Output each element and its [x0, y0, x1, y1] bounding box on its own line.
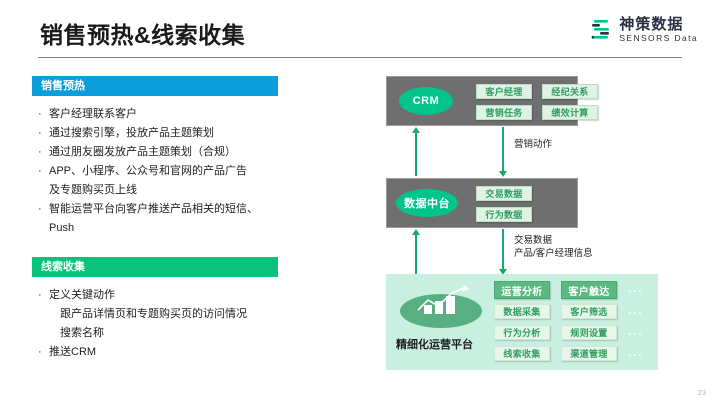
arrow-down-head-1 [499, 171, 507, 177]
list-item: · 智能运营平台向客户推送产品相关的短信、 Push [38, 200, 274, 238]
bullet-text: 推送CRM [49, 343, 274, 362]
chip-customer-reach[interactable]: 客户触达 [561, 281, 617, 299]
list-item: · 定义关键动作 跟产品详情页和专题购买页的访问情况 搜索名称 [38, 286, 274, 343]
continuation-dots: ··· [628, 351, 644, 362]
flow-label-transaction-data: 交易数据 产品/客户经理信息 [514, 234, 593, 260]
chip-broker-relation[interactable]: 经纪关系 [542, 84, 598, 99]
logo-cn-text: 神策数据 [619, 17, 698, 32]
architecture-diagram: CRM 客户经理 经纪关系 营销任务 绩效计算 营销动作 数据中台 交易数据 行… [386, 76, 686, 371]
chip-performance-calc[interactable]: 绩效计算 [542, 105, 598, 120]
arrow-up-head-2 [412, 229, 420, 235]
bullet-line: 智能运营平台向客户推送产品相关的短信、 [49, 203, 258, 215]
page-number: 23 [698, 388, 706, 397]
arrow-up-shaft-1 [415, 132, 417, 176]
arrow-up-head-1 [412, 127, 420, 133]
bullet-subline: 跟产品详情页和专题购买页的访问情况 [49, 305, 274, 324]
bullet-marker: · [38, 343, 49, 362]
chip-rule-setting[interactable]: 规则设置 [561, 325, 617, 340]
chip-operation-analysis[interactable]: 运营分析 [494, 281, 550, 299]
chip-customer-filter[interactable]: 客户筛选 [561, 304, 617, 319]
bullet-marker: · [38, 105, 49, 124]
chip-behavior-analysis[interactable]: 行为分析 [494, 325, 550, 340]
bullet-marker: · [38, 200, 49, 219]
panel-lead-collection: 线索收集 · 定义关键动作 跟产品详情页和专题购买页的访问情况 搜索名称 · 推… [32, 257, 278, 366]
continuation-dots: ··· [628, 287, 644, 298]
chip-account-manager[interactable]: 客户经理 [476, 84, 532, 99]
continuation-dots: ··· [628, 330, 644, 341]
bullet-marker: · [38, 286, 49, 305]
bullet-text: 客户经理联系客户 [49, 105, 274, 124]
bullet-text: APP、小程序、公众号和官网的产品广告 及专题购买页上线 [49, 162, 274, 200]
bullet-line: 定义关键动作 [49, 289, 115, 301]
continuation-dots: ··· [628, 309, 644, 320]
chip-data-collection[interactable]: 数据采集 [494, 304, 550, 319]
arrow-down-shaft-1 [502, 127, 504, 171]
bullet-text: 通过朋友圈发放产品主题策划（合规） [49, 143, 274, 162]
chip-marketing-task[interactable]: 营销任务 [476, 105, 532, 120]
chip-lead-collection[interactable]: 线索收集 [494, 346, 550, 361]
logo-en-text: SENSORS Data [619, 34, 698, 43]
logo-wordmark: 神策数据 SENSORS Data [619, 17, 698, 43]
arrow-up-shaft-2 [415, 234, 417, 274]
list-item: · 通过朋友圈发放产品主题策划（合规） [38, 143, 274, 162]
bullet-line: 及专题购买页上线 [49, 184, 137, 196]
list-item: · 通过搜索引擎，投放产品主题策划 [38, 124, 274, 143]
panel-header-sales-warmup: 销售预热 [32, 76, 278, 96]
list-item: · APP、小程序、公众号和官网的产品广告 及专题购买页上线 [38, 162, 274, 200]
title-divider [38, 57, 682, 58]
list-item: · 推送CRM [38, 343, 274, 362]
bullet-subline: 搜索名称 [49, 324, 274, 343]
chip-channel-management[interactable]: 渠道管理 [561, 346, 617, 361]
panel-body-sales-warmup: · 客户经理联系客户 · 通过搜索引擎，投放产品主题策划 · 通过朋友圈发放产品… [32, 96, 278, 242]
panel-sales-warmup: 销售预热 · 客户经理联系客户 · 通过搜索引擎，投放产品主题策划 · 通过朋友… [32, 76, 278, 242]
bullet-line: Push [49, 222, 74, 234]
sensors-logo-icon [591, 18, 613, 42]
flow-label-marketing-action: 营销动作 [514, 138, 552, 151]
bullet-text: 通过搜索引擎，投放产品主题策划 [49, 124, 274, 143]
bullet-marker: · [38, 143, 49, 162]
list-item: · 客户经理联系客户 [38, 105, 274, 124]
brand-logo: 神策数据 SENSORS Data [591, 17, 698, 43]
page-title: 销售预热&线索收集 [40, 16, 245, 50]
chip-transaction-data[interactable]: 交易数据 [476, 186, 532, 201]
panel-body-lead-collection: · 定义关键动作 跟产品详情页和专题购买页的访问情况 搜索名称 · 推送CRM [32, 277, 278, 366]
bullet-line: APP、小程序、公众号和官网的产品广告 [49, 165, 247, 177]
bullet-marker: · [38, 124, 49, 143]
data-hub-ellipse: 数据中台 [396, 189, 458, 217]
arrow-down-shaft-2 [502, 229, 504, 269]
chip-behavior-data[interactable]: 行为数据 [476, 207, 532, 222]
growth-chart-icon [414, 284, 472, 316]
bullet-text: 智能运营平台向客户推送产品相关的短信、 Push [49, 200, 274, 238]
bullet-marker: · [38, 162, 49, 181]
platform-name-label: 精细化运营平台 [396, 336, 473, 352]
bullet-text: 定义关键动作 跟产品详情页和专题购买页的访问情况 搜索名称 [49, 286, 274, 343]
panel-header-lead-collection: 线索收集 [32, 257, 278, 277]
crm-ellipse: CRM [399, 87, 453, 115]
